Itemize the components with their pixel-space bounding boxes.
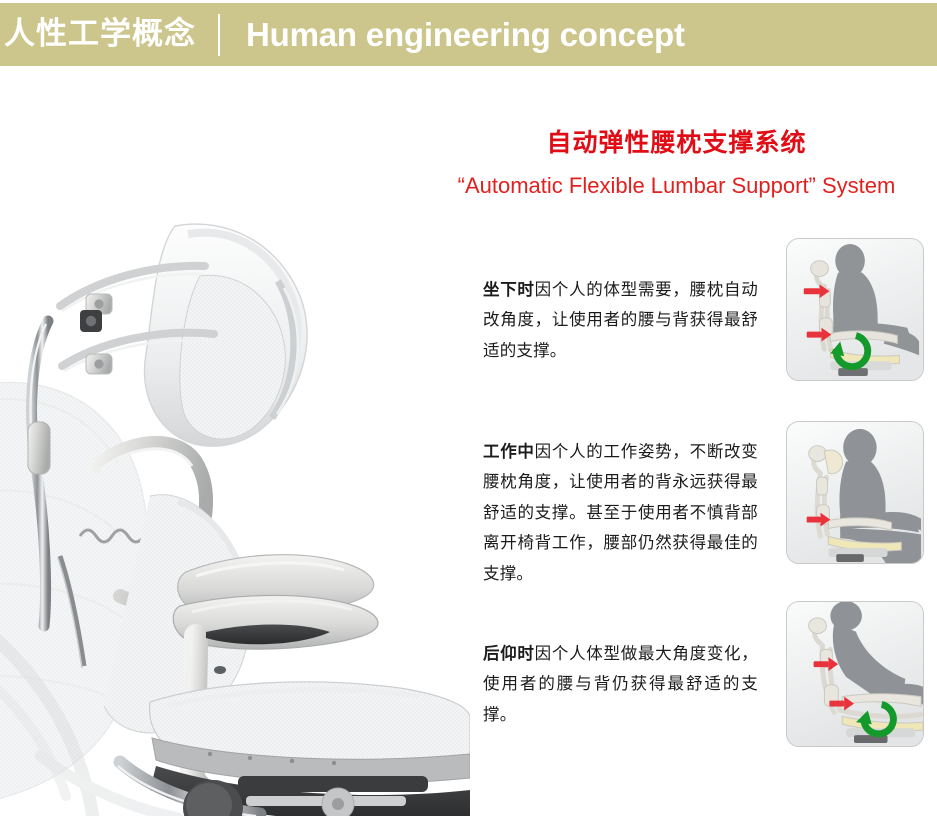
thumb3-chair-frame xyxy=(815,622,921,717)
thumb2-illustration xyxy=(787,422,923,563)
main-product-image xyxy=(0,66,470,816)
feature-text-working: 工作中因个人的工作姿势，不断改变腰枕角度，让使用者的背永远获得最舒适的支撑。甚至… xyxy=(483,437,758,590)
thumbnail-working-forward xyxy=(786,421,924,564)
section-heading-chinese: 自动弹性腰枕支撑系统 xyxy=(416,128,937,158)
thumb2-chair-parts xyxy=(809,446,902,551)
header-title-english: Human engineering concept xyxy=(246,18,685,51)
header-divider xyxy=(218,14,220,56)
section-heading-block: 自动弹性腰枕支撑系统 “Automatic Flexible Lumbar Su… xyxy=(420,128,937,200)
forward-leaning-person-silhouette xyxy=(839,429,921,563)
red-arrow-lower xyxy=(829,697,854,711)
seated-person-silhouette xyxy=(833,244,919,355)
thumbnail-reclined xyxy=(786,601,924,747)
thumb3-chair-parts xyxy=(809,618,923,731)
green-rotation-arrow xyxy=(830,336,867,367)
red-arrow-lower xyxy=(807,328,832,342)
section-heading-english: “Automatic Flexible Lumbar Support” Syst… xyxy=(416,172,937,200)
feature-lead-reclining: 后仰时 xyxy=(483,644,535,663)
thumb1-illustration xyxy=(787,239,923,380)
thumb1-chair-base xyxy=(830,361,891,376)
red-arrow-upper xyxy=(804,284,830,298)
feature-lead-sitting-down: 坐下时 xyxy=(483,280,535,299)
red-arrow-upper xyxy=(814,657,839,671)
thumb1-chair-frame xyxy=(817,265,896,358)
thumbnail-sitting-upright xyxy=(786,238,924,381)
page-header-bar: 人性工学概念 Human engineering concept xyxy=(0,3,937,66)
header-title-chinese: 人性工学概念 xyxy=(4,19,196,50)
thumb1-chair-parts xyxy=(811,261,900,364)
reclined-person-silhouette xyxy=(830,602,923,705)
chair-seat xyxy=(150,682,470,784)
feature-lead-working: 工作中 xyxy=(483,442,535,461)
feature-row-reclining: 后仰时因个人体型做最大角度变化，使用者的腰与背仍获得最舒适的支撑。 xyxy=(483,622,758,747)
green-rotation-arrow xyxy=(856,705,893,734)
feature-body-working: 因个人的工作姿势，不断改变腰枕角度，让使用者的背永远获得最舒适的支撑。甚至于使用… xyxy=(483,442,758,583)
feature-row-working: 工作中因个人的工作姿势，不断改变腰枕角度，让使用者的背永远获得最舒适的支撑。甚至… xyxy=(483,420,758,606)
feature-text-reclining: 后仰时因个人体型做最大角度变化，使用者的腰与背仍获得最舒适的支撑。 xyxy=(483,639,758,731)
ergonomic-chair-illustration xyxy=(0,66,470,816)
red-arrow-lumbar xyxy=(807,513,831,527)
thumb2-chair-frame xyxy=(814,450,828,537)
thumb3-illustration xyxy=(787,602,923,746)
thumb3-chair-base xyxy=(846,728,915,743)
thumb2-chair-base xyxy=(828,548,887,562)
feature-text-sitting-down: 坐下时因个人的体型需要，腰枕自动改角度，让使用者的腰与背获得最舒适的支撑。 xyxy=(483,275,758,367)
feature-row-sitting-down: 坐下时因个人的体型需要，腰枕自动改角度，让使用者的腰与背获得最舒适的支撑。 xyxy=(483,258,758,383)
